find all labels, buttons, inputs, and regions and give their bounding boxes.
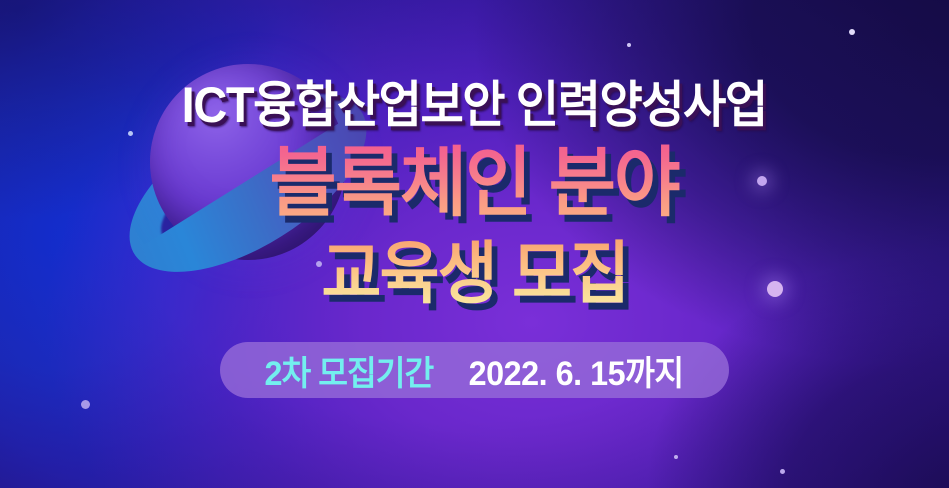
field-headline-fill: 블록체인 분야 bbox=[270, 141, 680, 226]
recruitment-period-badge: 2차 모집기간 2022. 6. 15까지 bbox=[220, 342, 730, 398]
period-label: 2차 모집기간 bbox=[264, 346, 433, 395]
period-deadline: 2022. 6. 15까지 bbox=[469, 346, 684, 395]
promo-banner: ICT융합산업보안 인력양성사업 블록체인 분야 블록체인 분야 교육생 모집 … bbox=[0, 0, 949, 488]
call-to-action-headline: 교육생 모집 교육생 모집 bbox=[321, 240, 628, 308]
banner-content: ICT융합산업보안 인력양성사업 블록체인 분야 블록체인 분야 교육생 모집 … bbox=[0, 0, 949, 488]
program-title: ICT융합산업보안 인력양성사업 bbox=[182, 80, 767, 130]
call-headline-fill: 교육생 모집 bbox=[321, 236, 628, 312]
field-headline: 블록체인 분야 블록체인 분야 bbox=[270, 146, 680, 222]
